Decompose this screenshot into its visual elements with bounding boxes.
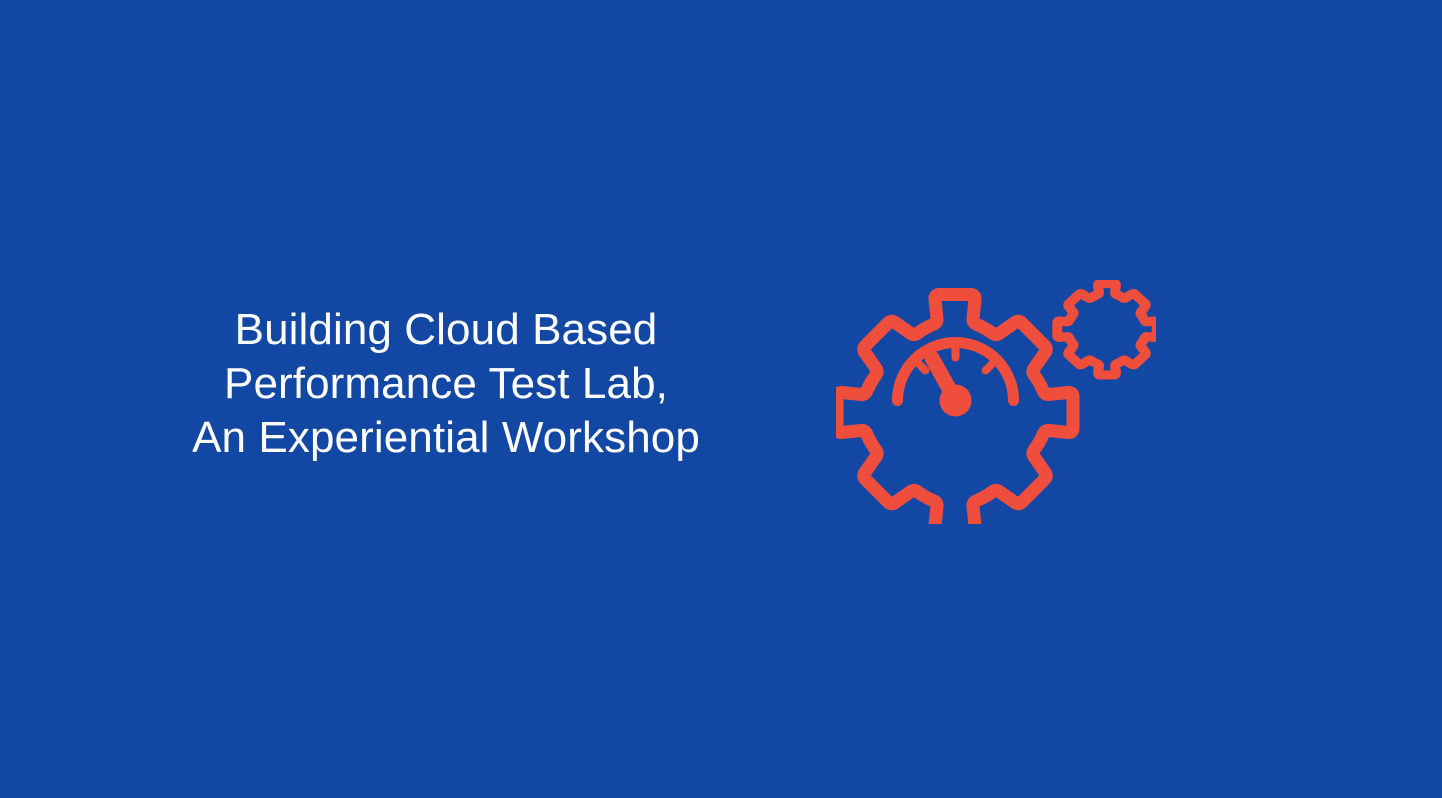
performance-gear-gauge-icon [836, 280, 1156, 524]
title-line-3: An Experiential Workshop [96, 411, 796, 465]
title-line-2: Performance Test Lab, [96, 357, 796, 411]
title-line-1: Building Cloud Based [96, 303, 796, 357]
slide-title: Building Cloud Based Performance Test La… [96, 303, 796, 465]
gauge-hub [940, 385, 972, 417]
presentation-slide: Building Cloud Based Performance Test La… [0, 0, 1442, 798]
small-gear-outline [1057, 284, 1156, 375]
